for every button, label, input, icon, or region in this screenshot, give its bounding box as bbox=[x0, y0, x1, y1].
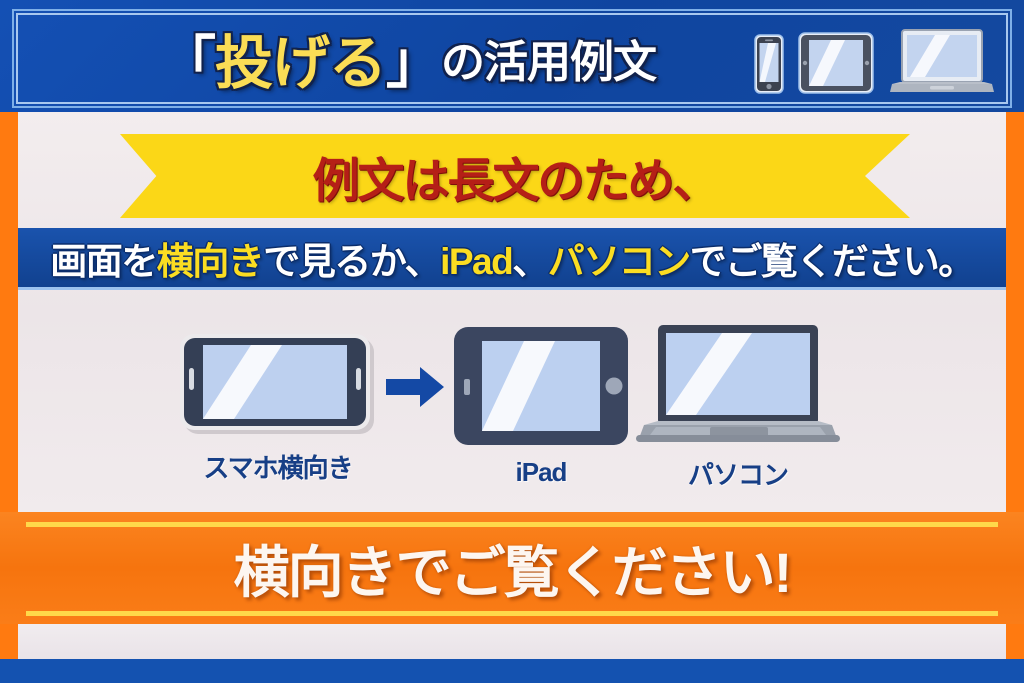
footer-bar bbox=[0, 659, 1024, 683]
ipad-landscape-icon bbox=[452, 325, 630, 447]
laptop-desktop-icon bbox=[630, 321, 846, 445]
notice-seg-6: でご覧ください。 bbox=[690, 241, 974, 282]
device-transition-arrow bbox=[384, 364, 446, 410]
notice-bar: 画面を横向きで見るか、iPad、パソコンでご覧ください。 bbox=[18, 228, 1006, 290]
bottom-strip bbox=[18, 624, 1006, 659]
notice-seg-2: で見るか、 bbox=[263, 241, 440, 282]
header-device-icons bbox=[754, 22, 996, 94]
device-label-laptop: パソコン bbox=[688, 455, 788, 492]
notice-seg-3: iPad bbox=[440, 241, 512, 282]
poster-canvas: 「 投げる 」 の活用例文 bbox=[0, 0, 1024, 683]
ribbon-banner: 例文は長文のため、 bbox=[18, 134, 1006, 218]
cta-label: 横向きでご覧ください! bbox=[0, 512, 1024, 624]
title-rest: の活用例文 bbox=[441, 26, 656, 90]
tablet-icon bbox=[798, 32, 874, 94]
notice-seg-0: 画面を bbox=[50, 241, 157, 282]
call-to-action-banner: 横向きでご覧ください! bbox=[0, 512, 1024, 624]
notice-seg-4: 、 bbox=[512, 241, 548, 282]
smartphone-landscape-icon bbox=[178, 328, 378, 438]
title-bracket-open: 「 bbox=[160, 18, 215, 99]
ribbon-label: 例文は長文のため、 bbox=[120, 134, 910, 218]
device-row: スマホ横向き iPad bbox=[18, 300, 1006, 512]
header-banner: 「 投げる 」 の活用例文 bbox=[0, 0, 1024, 112]
device-ipad: iPad bbox=[452, 325, 630, 488]
title-bracket-close: 」 bbox=[386, 18, 441, 99]
title-highlight: 投げる bbox=[215, 16, 386, 100]
laptop-icon bbox=[888, 28, 996, 94]
device-label-ipad: iPad bbox=[516, 457, 567, 488]
notice-seg-5: パソコン bbox=[548, 241, 690, 282]
arrow-right-icon bbox=[384, 364, 446, 410]
device-laptop: パソコン bbox=[630, 321, 846, 492]
ribbon-shape: 例文は長文のため、 bbox=[120, 134, 910, 218]
device-smartphone-landscape: スマホ横向き bbox=[178, 328, 378, 485]
notice-text: 画面を横向きで見るか、iPad、パソコンでご覧ください。 bbox=[50, 231, 973, 285]
page-title: 「 投げる 」 の活用例文 bbox=[160, 23, 740, 93]
notice-seg-1: 横向き bbox=[157, 241, 264, 282]
smartphone-icon bbox=[754, 34, 784, 94]
device-label-smartphone: スマホ横向き bbox=[203, 448, 352, 485]
